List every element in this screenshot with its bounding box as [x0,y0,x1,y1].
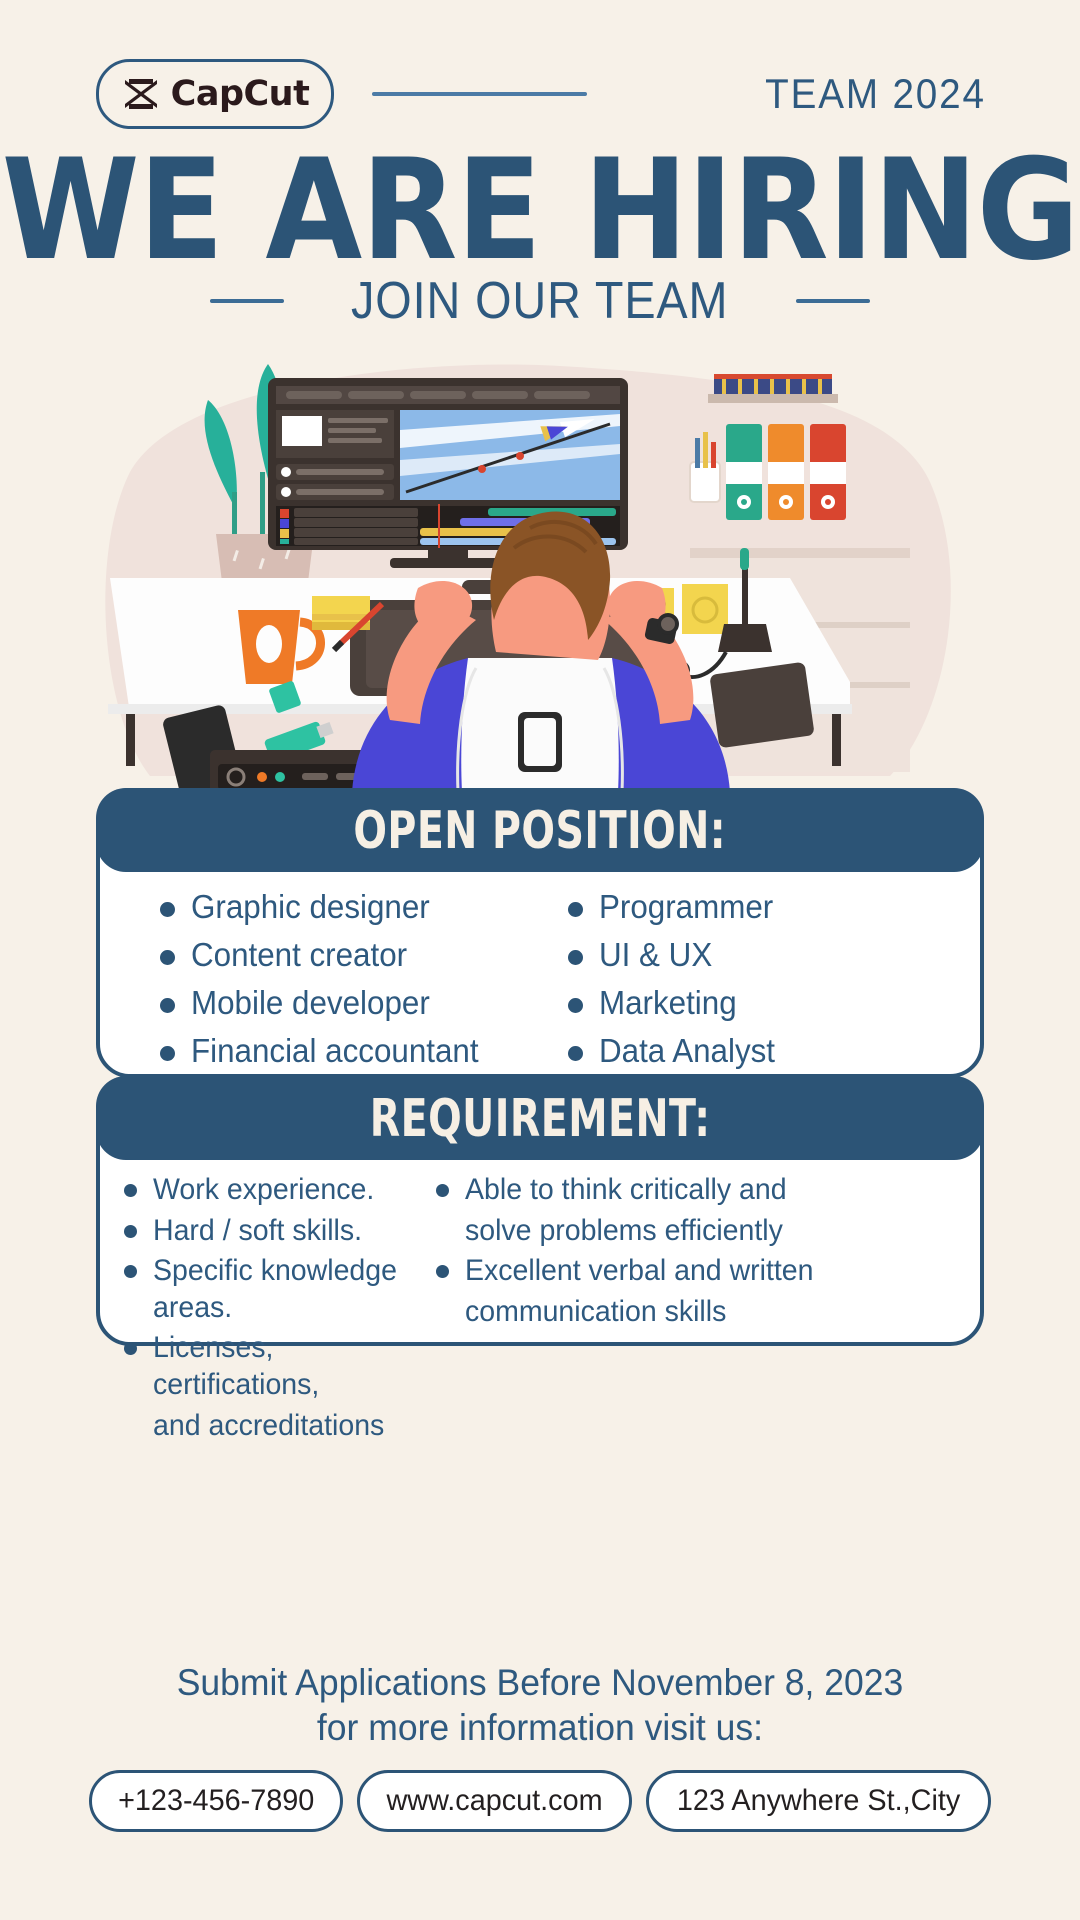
list-item: Marketing [568,984,784,1023]
contact-phone-pill[interactable]: +123-456-7890 [89,1770,343,1832]
contact-pills: +123-456-7890 www.capcut.com 123 Anywher… [0,1770,1080,1832]
header-divider-icon [372,92,587,96]
team-year-label: TEAM 2024 [765,70,986,118]
deadline-line: Submit Applications Before November 8, 2… [22,1660,1059,1705]
list-item: Licenses, certifications, [124,1330,436,1403]
list-item: Financial accountant [160,1032,568,1071]
open-positions-columns: Graphic designer Content creator Mobile … [100,888,988,1080]
list-item-label: Mobile developer [191,984,430,1023]
list-item: UI & UX [568,936,784,975]
list-item-label: Data Analyst [599,1032,775,1071]
list-item: Graphic designer [160,888,568,927]
list-item: Content creator [160,936,568,975]
requirements-heading: REQUIREMENT: [370,1088,711,1148]
subtitle-row: JOIN OUR TEAM [0,268,1080,334]
requirements-card: REQUIREMENT: Work experience. Hard / sof… [96,1076,984,1346]
contact-address-pill[interactable]: 123 Anywhere St.,City [646,1770,991,1832]
list-item: Able to think critically and [436,1172,832,1209]
list-item: solve problems efficiently [436,1213,832,1250]
list-item-label: Licenses, certifications, [153,1330,422,1403]
list-item: and accreditations [124,1408,436,1445]
list-item-label: Programmer [599,888,773,927]
bullet-icon [568,1046,583,1061]
contact-address-label: 123 Anywhere St.,City [677,1784,960,1818]
contact-website-label: www.capcut.com [387,1784,603,1818]
list-item: Work experience. [124,1172,436,1209]
bullet-icon [124,1265,137,1278]
list-item-label: and accreditations [153,1408,384,1445]
contact-website-pill[interactable]: www.capcut.com [357,1770,632,1832]
hiring-poster: CapCut TEAM 2024 WE ARE HIRING JOIN OUR … [0,0,1080,1920]
bullet-icon [568,902,583,917]
list-item-label: Content creator [191,936,407,975]
bullet-icon [436,1184,449,1197]
list-item-label: Hard / soft skills. [153,1213,362,1250]
bullet-icon [568,998,583,1013]
open-positions-right-column: Programmer UI & UX Marketing Data Analys… [568,888,784,1080]
poster-header: CapCut TEAM 2024 [0,54,1080,134]
subtitle-rule-right-icon [796,299,870,303]
capcut-logo-text: CapCut [171,74,310,114]
open-positions-heading: OPEN POSITION: [354,800,727,860]
list-item: Specific knowledge areas. [124,1253,436,1326]
list-item-label: Marketing [599,984,737,1023]
list-item-label: Graphic designer [191,888,430,927]
list-item-label: solve problems efficiently [465,1213,783,1250]
bullet-icon [124,1342,137,1355]
open-positions-left-column: Graphic designer Content creator Mobile … [160,888,568,1080]
list-item-label: communication skills [465,1294,726,1331]
list-item-label: Able to think critically and [465,1172,787,1209]
list-item-label: Work experience. [153,1172,374,1209]
list-item: Programmer [568,888,784,927]
bullet-icon [160,950,175,965]
video-editor-at-desk-illustration [90,352,990,792]
list-item: communication skills [436,1294,832,1331]
bullet-icon [160,998,175,1013]
capcut-logo-badge: CapCut [96,59,334,129]
info-line: for more information visit us: [22,1705,1059,1750]
page-subtitle: JOIN OUR TEAM [351,271,728,331]
subtitle-rule-left-icon [210,299,284,303]
bullet-icon [160,902,175,917]
list-item-label: UI & UX [599,936,712,975]
list-item-label: Financial accountant [191,1032,479,1071]
list-item-label: Excellent verbal and written [465,1253,814,1290]
list-item-label: Specific knowledge areas. [153,1253,422,1326]
bullet-icon [160,1046,175,1061]
open-positions-card: OPEN POSITION: Graphic designer Content … [96,788,984,1078]
bullet-icon [436,1265,449,1278]
bullet-icon [568,950,583,965]
list-item: Data Analyst [568,1032,784,1071]
list-item: Hard / soft skills. [124,1213,436,1250]
capcut-clapper-icon [121,77,161,111]
open-positions-band: OPEN POSITION: [96,788,984,872]
footer-note: Submit Applications Before November 8, 2… [22,1660,1059,1750]
list-item: Mobile developer [160,984,568,1023]
requirements-left-column: Work experience. Hard / soft skills. Spe… [124,1172,436,1448]
requirements-right-column: Able to think critically and solve probl… [436,1172,832,1448]
requirements-band: REQUIREMENT: [96,1076,984,1160]
contact-phone-label: +123-456-7890 [118,1784,314,1818]
bullet-icon [124,1184,137,1197]
bullet-icon [124,1225,137,1238]
list-item: Excellent verbal and written [436,1253,832,1290]
requirements-columns: Work experience. Hard / soft skills. Spe… [100,1172,988,1448]
page-title: WE ARE HIRING [0,140,1080,279]
